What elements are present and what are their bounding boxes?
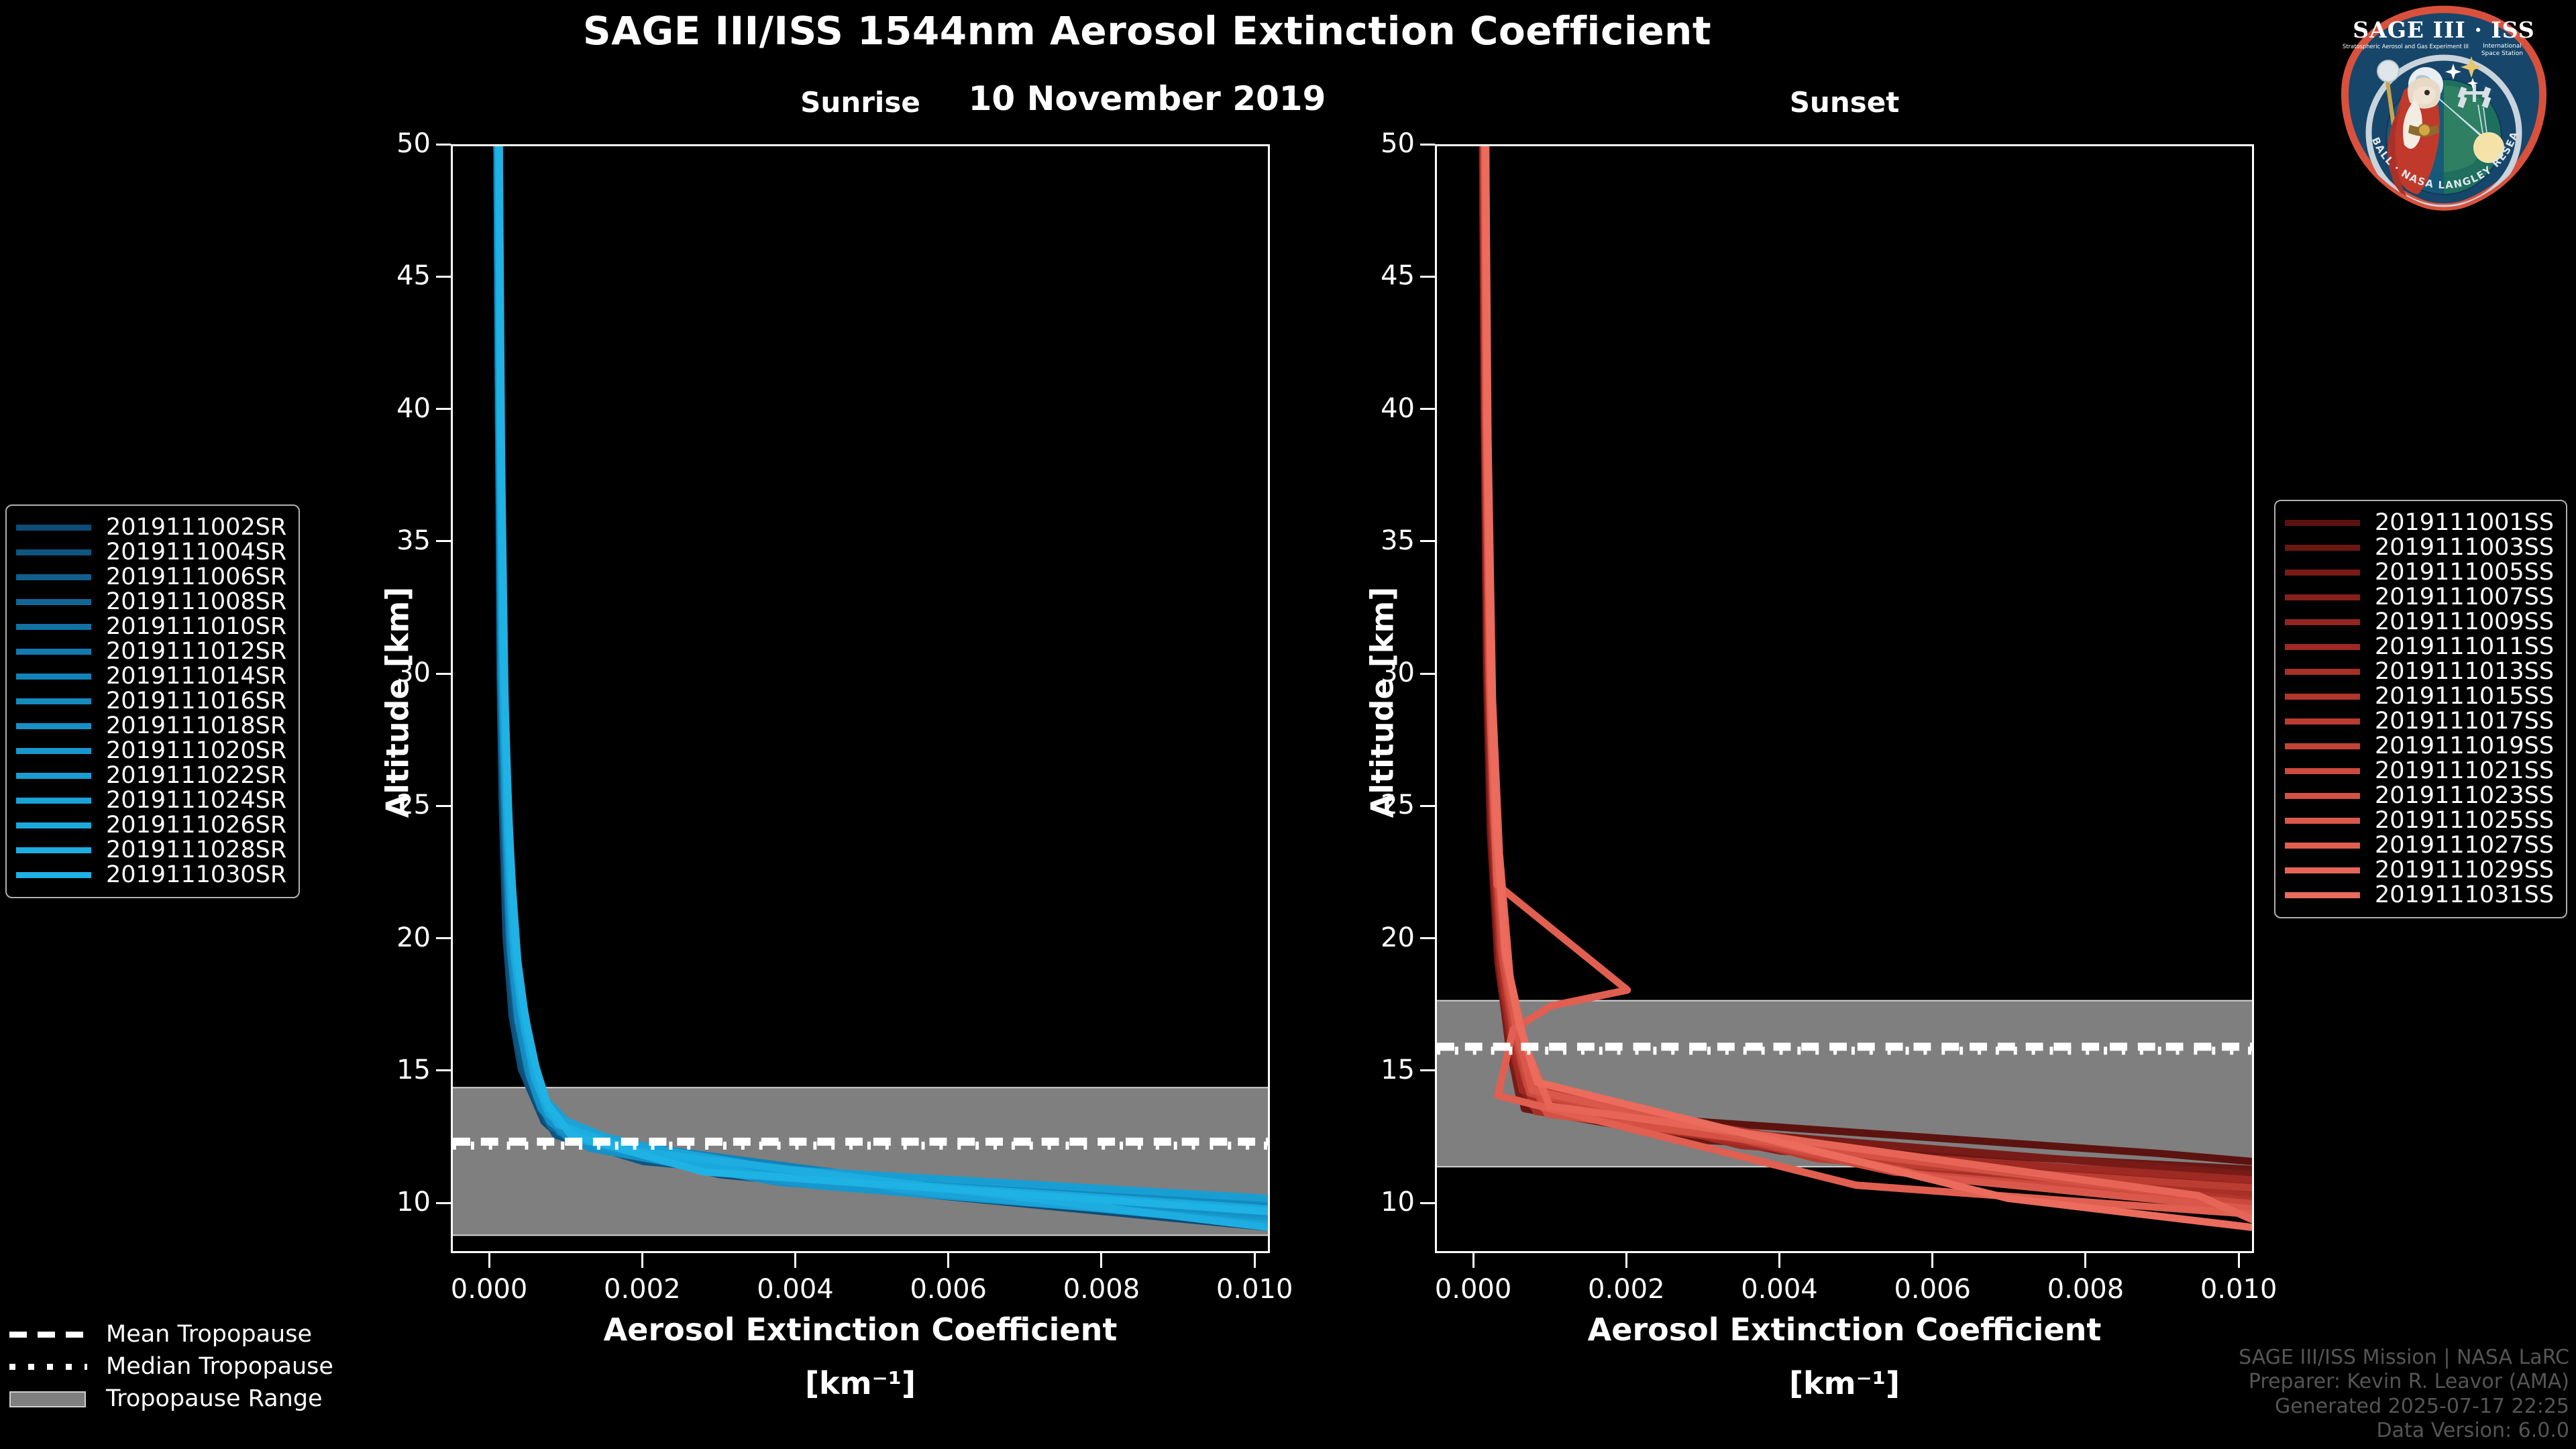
x-axis-tick-label: 0.002 xyxy=(561,1276,722,1303)
legend-item-label: 2019111025SS xyxy=(2375,809,2554,833)
profile-line xyxy=(497,146,1268,1212)
profile-line xyxy=(498,146,1268,1225)
sunset-panel-title: Sunset xyxy=(1435,86,2254,119)
x-axis-tick xyxy=(1472,1253,1474,1268)
legend-color-swatch-icon xyxy=(2285,570,2360,576)
x-axis-tick-label: 0.000 xyxy=(409,1276,570,1303)
x-axis-tick-label: 0.000 xyxy=(1393,1276,1554,1303)
legend-item-label: 2019111003SS xyxy=(2375,536,2554,559)
tropopause-range-swatch-icon xyxy=(5,1389,91,1409)
legend-color-swatch-icon xyxy=(16,822,91,828)
legend-color-swatch-icon xyxy=(2285,619,2360,625)
y-axis-tick-label: 35 xyxy=(1314,527,1415,554)
legend-color-swatch-icon xyxy=(16,624,91,630)
legend-color-swatch-icon xyxy=(16,698,91,704)
legend-item-label: 2019111023SS xyxy=(2375,784,2554,808)
x-axis-tick-label: 0.004 xyxy=(1699,1276,1860,1303)
legend-item-sunset[interactable]: 2019111029SS xyxy=(2285,858,2554,883)
sunrise-legend[interactable]: 2019111002SR2019111004SR2019111006SR2019… xyxy=(5,504,300,898)
profile-line xyxy=(499,146,1268,1212)
legend-item-sunrise[interactable]: 2019111008SR xyxy=(16,590,286,614)
legend-color-swatch-icon xyxy=(16,525,91,531)
x-axis-tick-label: 0.004 xyxy=(715,1276,876,1303)
legend-color-swatch-icon xyxy=(16,872,91,878)
profile-line xyxy=(498,146,1268,1209)
credits-data-version: Data Version: 6.0.0 xyxy=(2239,1419,2569,1444)
y-axis-tick xyxy=(1420,673,1435,675)
y-axis-tick-label: 45 xyxy=(1314,262,1415,289)
legend-item-label: 2019111019SS xyxy=(2375,735,2554,758)
legend-item-label: 2019111031SS xyxy=(2375,883,2554,907)
y-axis-tick xyxy=(436,540,451,542)
y-axis-tick-label: 10 xyxy=(1314,1189,1415,1216)
sunset-legend[interactable]: 2019111001SS2019111003SS2019111005SS2019… xyxy=(2274,500,2567,918)
legend-item-sunrise[interactable]: 2019111014SR xyxy=(16,664,286,689)
legend-item-label: 2019111024SR xyxy=(106,789,286,812)
legend-item-label: 2019111008SR xyxy=(106,590,286,614)
profile-line xyxy=(498,146,1268,1198)
profile-line xyxy=(497,146,1268,1228)
legend-item-label: 2019111005SS xyxy=(2375,561,2554,584)
legend-item-sunrise[interactable]: 2019111024SR xyxy=(16,788,286,813)
legend-item-label: 2019111026SR xyxy=(106,814,286,837)
y-axis-tick-label: 40 xyxy=(1314,395,1415,422)
x-axis-tick xyxy=(1254,1253,1256,1268)
legend-color-swatch-icon xyxy=(2285,669,2360,675)
legend-item-sunrise[interactable]: 2019111016SR xyxy=(16,689,286,714)
credits-mission: SAGE III/ISS Mission | NASA LaRC xyxy=(2239,1346,2569,1371)
sunset-plot-canvas xyxy=(1437,146,2252,1251)
legend-item-label: 2019111014SR xyxy=(106,665,286,688)
legend-item-sunset[interactable]: 2019111023SS xyxy=(2285,784,2554,808)
legend-color-swatch-icon xyxy=(16,599,91,605)
legend-item-sunset[interactable]: 2019111003SS xyxy=(2285,535,2554,560)
legend-item-sunset[interactable]: 2019111015SS xyxy=(2285,684,2554,709)
y-axis-tick-label: 45 xyxy=(330,262,431,289)
y-axis-tick xyxy=(1420,540,1435,542)
legend-item-label: 2019111002SR xyxy=(106,516,286,539)
legend-item-sunset[interactable]: 2019111025SS xyxy=(2285,808,2554,833)
legend-color-swatch-icon xyxy=(2285,743,2360,749)
legend-color-swatch-icon xyxy=(16,649,91,655)
credits-generated: Generated 2025-07-17 22:25 xyxy=(2239,1395,2569,1419)
x-axis-tick-label: 0.008 xyxy=(2005,1276,2166,1303)
y-axis-tick-label: 15 xyxy=(1314,1057,1415,1083)
x-axis-tick xyxy=(2084,1253,2086,1268)
profile-line xyxy=(498,146,1268,1217)
x-axis-tick xyxy=(1778,1253,1780,1268)
median-tropopause-line-icon xyxy=(5,1356,91,1377)
profile-line xyxy=(497,146,1268,1222)
sunrise-xaxis-title: Aerosol Extinction Coefficient xyxy=(451,1311,1270,1348)
legend-item-label: 2019111022SR xyxy=(106,764,286,788)
y-axis-tick xyxy=(436,1069,451,1071)
legend-color-swatch-icon xyxy=(2285,892,2360,898)
sunrise-plot-area[interactable] xyxy=(451,144,1270,1253)
legend-item-label: 2019111009SS xyxy=(2375,610,2554,634)
legend-item-label: 2019111004SR xyxy=(106,541,286,564)
sage-iii-iss-mission-patch-logo: BALL · NASA LANGLEY RESEARCH CENTER · TA… xyxy=(2340,5,2548,213)
x-axis-tick xyxy=(1931,1253,1933,1268)
y-axis-tick xyxy=(436,937,451,939)
x-axis-tick xyxy=(1100,1253,1102,1268)
legend-item-median-tropopause[interactable]: Median Tropopause xyxy=(5,1350,333,1383)
svg-text:Space Station: Space Station xyxy=(2481,50,2523,57)
y-axis-tick-label: 20 xyxy=(330,924,431,951)
y-axis-tick xyxy=(1420,1069,1435,1071)
legend-color-swatch-icon xyxy=(16,549,91,555)
x-axis-tick xyxy=(1625,1253,1627,1268)
legend-color-swatch-icon xyxy=(2285,768,2360,774)
legend-item-label: 2019111028SR xyxy=(106,839,286,862)
legend-color-swatch-icon xyxy=(2285,545,2360,551)
legend-item-label: 2019111007SS xyxy=(2375,586,2554,609)
legend-color-swatch-icon xyxy=(2285,793,2360,799)
svg-text:International: International xyxy=(2483,43,2521,50)
y-axis-tick-label: 15 xyxy=(330,1057,431,1083)
sunset-yaxis-title: Altitude [km] xyxy=(1364,587,1400,818)
x-axis-tick-label: 0.008 xyxy=(1021,1276,1182,1303)
legend-item-sunset[interactable]: 2019111001SS xyxy=(2285,511,2554,535)
legend-item-sunset[interactable]: 2019111007SS xyxy=(2285,585,2554,610)
page-title: SAGE III/ISS 1544nm Aerosol Extinction C… xyxy=(0,8,2294,54)
x-axis-tick xyxy=(947,1253,949,1268)
legend-item-sunrise[interactable]: 2019111020SR xyxy=(16,739,286,763)
sunset-xaxis-unit: [km⁻¹] xyxy=(1435,1365,2254,1401)
legend-color-swatch-icon xyxy=(2285,594,2360,600)
legend-color-swatch-icon xyxy=(2285,867,2360,873)
x-axis-tick-label: 0.006 xyxy=(1852,1276,2013,1303)
tropopause-range-label: Tropopause Range xyxy=(106,1387,323,1411)
y-axis-tick xyxy=(436,276,451,278)
y-axis-tick xyxy=(436,144,451,146)
sunset-xaxis-title: Aerosol Extinction Coefficient xyxy=(1435,1311,2254,1348)
legend-item-sunset[interactable]: 2019111011SS xyxy=(2285,635,2554,659)
y-axis-tick-label: 40 xyxy=(330,395,431,422)
legend-item-sunrise[interactable]: 2019111004SR xyxy=(16,540,286,565)
sunrise-yaxis-title: Altitude [km] xyxy=(379,587,415,818)
legend-item-label: 2019111012SR xyxy=(106,640,286,663)
x-axis-tick-label: 0.002 xyxy=(1546,1276,1707,1303)
profile-line xyxy=(498,146,1268,1222)
x-axis-tick xyxy=(794,1253,796,1268)
legend-item-label: 2019111017SS xyxy=(2375,710,2554,733)
legend-color-swatch-icon xyxy=(16,773,91,779)
legend-item-sunrise[interactable]: 2019111018SR xyxy=(16,714,286,739)
sunrise-xaxis-unit: [km⁻¹] xyxy=(451,1365,1270,1401)
profile-line xyxy=(497,146,1268,1206)
legend-item-label: 2019111021SS xyxy=(2375,759,2554,783)
profile-line xyxy=(497,146,1268,1220)
legend-item-sunrise[interactable]: 2019111022SR xyxy=(16,763,286,788)
legend-color-swatch-icon xyxy=(2285,843,2360,849)
legend-color-swatch-icon xyxy=(2285,520,2360,526)
credits-preparer: Preparer: Kevin R. Leavor (AMA) xyxy=(2239,1370,2569,1395)
y-axis-tick-label: 50 xyxy=(330,130,431,157)
y-axis-tick xyxy=(1420,1202,1435,1204)
y-axis-tick xyxy=(436,805,451,807)
legend-item-sunrise[interactable]: 2019111028SR xyxy=(16,838,286,863)
profile-line xyxy=(497,146,1268,1214)
legend-item-label: 2019111015SS xyxy=(2375,685,2554,708)
legend-item-sunrise[interactable]: 2019111006SR xyxy=(16,565,286,590)
legend-color-swatch-icon xyxy=(2285,644,2360,650)
legend-item-sunrise[interactable]: 2019111030SR xyxy=(16,863,286,888)
y-axis-tick-label: 50 xyxy=(1314,130,1415,157)
legend-color-swatch-icon xyxy=(16,723,91,729)
y-axis-tick-label: 10 xyxy=(330,1189,431,1216)
y-axis-tick xyxy=(1420,408,1435,410)
legend-item-mean-tropopause[interactable]: Mean Tropopause xyxy=(5,1318,333,1350)
sunset-plot-area[interactable] xyxy=(1435,144,2254,1253)
y-axis-tick-label: 20 xyxy=(1314,924,1415,951)
legend-item-label: 2019111011SS xyxy=(2375,635,2554,659)
profile-line xyxy=(499,146,1268,1228)
legend-color-swatch-icon xyxy=(2285,694,2360,700)
legend-item-sunrise[interactable]: 2019111012SR xyxy=(16,639,286,664)
legend-item-label: 2019111016SR xyxy=(106,690,286,713)
legend-item-label: 2019111001SS xyxy=(2375,511,2554,535)
sunrise-plot-canvas xyxy=(453,146,1268,1251)
x-axis-tick xyxy=(488,1253,490,1268)
median-tropopause-label: Median Tropopause xyxy=(106,1355,333,1379)
legend-item-label: 2019111006SR xyxy=(106,566,286,589)
legend-color-swatch-icon xyxy=(16,798,91,804)
legend-color-swatch-icon xyxy=(16,674,91,680)
legend-item-sunset[interactable]: 2019111009SS xyxy=(2285,610,2554,635)
x-axis-tick-label: 0.006 xyxy=(868,1276,1029,1303)
profile-line xyxy=(498,146,1268,1201)
x-axis-tick xyxy=(2238,1253,2240,1268)
legend-item-sunset[interactable]: 2019111031SS xyxy=(2285,883,2554,908)
legend-item-label: 2019111020SR xyxy=(106,739,286,763)
y-axis-tick xyxy=(436,408,451,410)
y-axis-tick xyxy=(1420,276,1435,278)
tropopause-legend[interactable]: Mean Tropopause Median Tropopause Tropop… xyxy=(5,1318,333,1415)
legend-item-sunset[interactable]: 2019111005SS xyxy=(2285,560,2554,585)
y-axis-tick xyxy=(1420,937,1435,939)
legend-color-swatch-icon xyxy=(2285,818,2360,824)
legend-color-swatch-icon xyxy=(16,847,91,853)
legend-item-sunset[interactable]: 2019111013SS xyxy=(2285,659,2554,684)
x-axis-tick-label: 0.010 xyxy=(2158,1276,2319,1303)
legend-color-swatch-icon xyxy=(16,574,91,580)
legend-item-sunrise[interactable]: 2019111026SR xyxy=(16,813,286,838)
x-axis-tick xyxy=(641,1253,643,1268)
sunrise-panel-title: Sunrise xyxy=(451,86,1270,119)
legend-item-label: 2019111030SR xyxy=(106,863,286,887)
legend-color-swatch-icon xyxy=(16,748,91,754)
legend-item-label: 2019111027SS xyxy=(2375,834,2554,857)
legend-item-sunrise[interactable]: 2019111002SR xyxy=(16,515,286,540)
legend-item-sunset[interactable]: 2019111027SS xyxy=(2285,833,2554,858)
y-axis-tick xyxy=(436,1202,451,1204)
legend-item-sunset[interactable]: 2019111019SS xyxy=(2285,734,2554,759)
mean-tropopause-line-icon xyxy=(5,1324,91,1344)
legend-item-sunrise[interactable]: 2019111010SR xyxy=(16,614,286,639)
legend-item-label: 2019111018SR xyxy=(106,714,286,738)
legend-color-swatch-icon xyxy=(2285,718,2360,724)
credits-block: SAGE III/ISS Mission | NASA LaRC Prepare… xyxy=(2239,1346,2569,1444)
y-axis-tick xyxy=(436,673,451,675)
svg-text:SAGE III · ISS: SAGE III · ISS xyxy=(2353,17,2534,43)
legend-item-sunset[interactable]: 2019111021SS xyxy=(2285,759,2554,784)
legend-item-label: 2019111013SS xyxy=(2375,660,2554,684)
legend-item-sunset[interactable]: 2019111017SS xyxy=(2285,709,2554,734)
y-axis-tick xyxy=(1420,805,1435,807)
y-axis-tick xyxy=(1420,144,1435,146)
profile-line xyxy=(498,146,1268,1203)
svg-text:Stratospheric Aerosol and Gas: Stratospheric Aerosol and Gas Experiment… xyxy=(2343,43,2469,50)
mean-tropopause-label: Mean Tropopause xyxy=(106,1323,312,1346)
legend-item-label: 2019111010SR xyxy=(106,615,286,639)
legend-item-label: 2019111029SS xyxy=(2375,859,2554,882)
x-axis-tick-label: 0.010 xyxy=(1174,1276,1335,1303)
y-axis-tick-label: 35 xyxy=(330,527,431,554)
legend-item-tropopause-range[interactable]: Tropopause Range xyxy=(5,1383,333,1415)
